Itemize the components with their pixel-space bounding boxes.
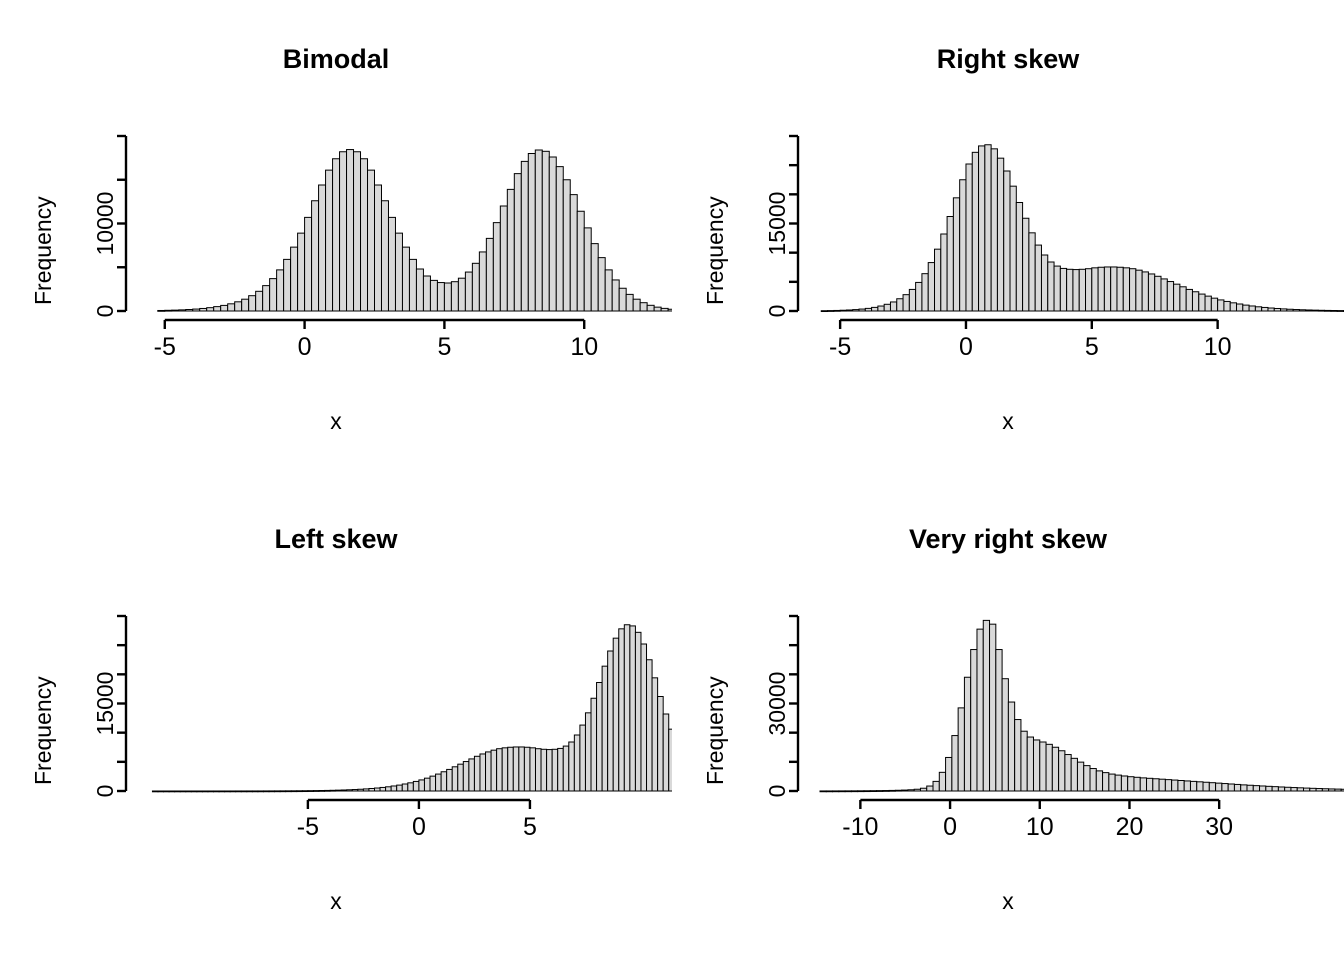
histogram-bar [1230,303,1236,311]
histogram-bar [1147,778,1153,791]
histogram-bar [585,713,591,791]
histogram-bar [1285,787,1291,791]
histogram-bar [1059,751,1065,791]
histogram-bar [1123,268,1129,311]
histogram-bar [228,304,235,311]
histogram-bar [633,299,640,311]
histogram-bar [497,749,503,791]
histogram-bar [430,280,437,311]
histogram-bar [939,772,945,791]
histogram-bar [1253,786,1259,791]
x-axis-tick-label: 10 [570,333,598,361]
histogram-bar [1086,269,1092,311]
histogram-bar [358,789,364,791]
x-axis-tick-label: 10 [1204,333,1232,361]
histogram-bar [368,170,375,311]
x-axis-tick-label: 0 [412,813,426,841]
histogram-bar [486,752,492,791]
histogram-bar [312,201,319,311]
histogram-bar [513,747,519,791]
histogram-bar [352,790,358,791]
histogram-bar [381,201,388,311]
histogram-bar [1287,309,1293,311]
histogram-bar [298,233,305,311]
histogram-bar [1148,274,1154,311]
histogram-bar [1172,780,1178,791]
histogram-bar [658,697,664,792]
histogram-bar [1035,245,1041,311]
histogram-bar [164,791,170,792]
histogram-bar [430,776,436,791]
histogram-bar [1115,775,1121,791]
histogram-bar [479,252,486,311]
histogram-bar [977,629,983,791]
histogram-bar [1130,269,1136,311]
histogram-bar [452,767,458,791]
histogram-bar [158,791,164,792]
histogram-bar [441,772,447,791]
histogram-bar [252,791,258,792]
histogram-bar [661,308,668,311]
histogram-bar [821,311,827,312]
histogram-bar [363,789,369,791]
histogram-bar [225,791,231,792]
histogram-bar [1077,762,1083,791]
histogram-bar [1299,310,1305,311]
histogram-bar [996,650,1002,791]
histogram-bar [1117,267,1123,311]
histogram-bar [820,791,826,792]
histogram-bar [1121,776,1127,791]
histogram-bar [519,747,525,791]
histogram-bar [291,791,297,792]
histogram-bar [577,211,584,311]
histogram-bar [884,304,890,311]
histogram-bar [325,790,331,791]
histogram-bar [990,624,996,791]
histogram-bar [979,146,985,311]
histogram-bar [465,272,472,311]
histogram-bar [305,217,312,311]
histogram-bar [1161,279,1167,311]
x-axis-tick-label: -5 [154,333,176,361]
histogram-bar [647,305,654,311]
histogram-bar [1272,787,1278,791]
histogram-bar [1335,789,1341,791]
histogram-bar [1060,268,1066,311]
histogram-plot-area: 030000-100102030 [672,480,1344,960]
histogram-bar [1291,788,1297,791]
histogram-bar [463,762,469,791]
histogram-bar [859,309,865,311]
histogram-bar [1023,218,1029,311]
histogram-bar [1281,309,1287,311]
x-axis-tick-label: 10 [1026,813,1054,841]
histogram-bar [395,233,402,311]
histogram-bar [158,310,165,311]
x-axis-tick-label: -10 [842,813,878,841]
histogram-bar [1136,270,1142,311]
histogram-bar [1041,255,1047,311]
histogram-bar [549,157,556,311]
histogram-bar [1134,777,1140,791]
histogram-bar [1155,276,1161,311]
histogram-bars [158,150,672,312]
histogram-bar [1004,171,1010,311]
histogram-bar [552,749,558,791]
histogram-bar [202,791,208,792]
histogram-bar [347,150,354,311]
histogram-bar [958,708,964,791]
histogram-bar [833,791,839,792]
histogram-bar [1098,267,1104,311]
histogram-bar [1243,305,1249,311]
histogram-bar [521,161,528,311]
histogram-bar [214,791,220,792]
histogram-bar [1104,267,1110,311]
histogram-bar [308,791,314,792]
histogram-bar [1297,788,1303,791]
histogram-bar [469,759,475,791]
histogram-bar [380,787,386,791]
histogram-bar [1140,778,1146,791]
histogram-bar [612,280,619,311]
histogram-bar [840,310,846,311]
histogram-bar [1224,301,1230,311]
y-axis-tick-label: 10000 [92,192,118,256]
histogram-bar [1266,786,1272,791]
histogram-bar [626,294,633,311]
histogram-bar [858,791,864,792]
histogram-bar [1268,308,1274,311]
histogram-bar [909,289,915,311]
histogram-bar [423,276,430,311]
histogram-bar [480,754,486,791]
histogram-bar [1079,269,1085,311]
histogram-bar [1209,783,1215,791]
histogram-bar [953,198,959,311]
panel-bimodal: Bimodal Frequency x 010000-50510 [0,0,672,480]
histogram-bar [1109,774,1115,791]
histogram-bar [878,306,884,311]
y-axis-tick-label: 15000 [92,672,118,736]
histogram-bar [1216,783,1222,791]
histogram-bar [619,288,626,311]
histogram-bar [1021,731,1027,791]
histogram-bar [580,725,586,791]
histogram-bar [186,310,193,311]
histogram-bar [1054,266,1060,311]
histogram-bar [191,791,197,792]
histogram-bar [569,742,575,791]
histogram-bars [820,620,1344,791]
histogram-bar [221,305,228,311]
histogram-bar [180,791,186,792]
x-axis-tick-label: -5 [297,813,319,841]
histogram-bar [1237,304,1243,311]
histogram-bar [635,632,641,791]
histogram-bar [340,152,347,311]
histogram-bar [507,189,514,311]
histogram-bar [591,698,597,791]
histogram-bar [541,749,547,791]
histogram-bar [647,660,653,791]
histogram-bar [402,247,409,311]
histogram-bar [1329,789,1335,791]
histogram-bar [1274,308,1280,311]
histogram-bar [313,791,319,792]
histogram-bar [186,791,192,792]
histogram-bar [258,791,264,792]
histogram-bar [883,791,889,792]
histogram-bar [598,258,605,311]
histogram-bar [1046,744,1052,791]
histogram-bar [263,286,270,311]
histogram-bar [1008,702,1014,791]
histogram-bar [1174,284,1180,311]
histogram-bar [1197,782,1203,791]
histogram-bar [269,791,275,792]
y-axis-tick-label: 30000 [764,672,790,736]
histogram-bar [1192,292,1198,311]
histogram-bar [920,788,926,791]
histogram-bar [275,791,281,792]
histogram-bar [903,295,909,311]
histogram-bar [597,683,603,792]
histogram-bar [542,151,549,311]
histogram-bar [386,787,392,791]
y-axis-tick-label: 0 [92,785,118,798]
histogram-bar [574,735,580,791]
histogram-bar [865,308,871,311]
histogram-bar [1322,789,1328,791]
histogram-bar [834,310,840,311]
histogram-bar [1310,788,1316,791]
histogram-bar [927,786,933,791]
histogram-bar [207,308,214,311]
y-axis-tick-label: 0 [764,785,790,798]
x-axis-tick-label: 5 [437,333,451,361]
histogram-bar [1016,203,1022,312]
histogram-bar [1015,720,1021,791]
histogram-bar [1103,773,1109,791]
histogram-bar [1262,307,1268,311]
histogram-bar [235,302,242,311]
x-axis-tick-label: 30 [1205,813,1233,841]
histogram-bar [928,263,934,311]
histogram-bar [563,180,570,311]
histogram-bars [152,625,672,792]
histogram-bar [172,310,179,311]
histogram-bar [1222,784,1228,791]
histogram-bar [1211,298,1217,311]
histogram-bar [333,159,340,311]
histogram-bar [409,259,416,311]
histogram-bar [375,788,381,791]
panel-right-skew: Right skew Frequency x 015000-50510 [672,0,1344,480]
histogram-bar [640,303,647,311]
histogram-bar [1153,779,1159,791]
x-axis-tick-label: 0 [959,333,973,361]
histogram-bar [1180,287,1186,311]
histogram-bar [416,269,423,311]
histogram-bar [946,757,952,791]
histogram-bar [165,310,172,311]
histogram-bar [641,644,647,791]
histogram-bar [208,791,214,792]
histogram-bar [214,307,221,311]
histogram-bar [1033,740,1039,791]
histogram-bar [388,217,395,311]
histogram-bar [1186,289,1192,311]
histogram-bar [508,747,514,791]
histogram-bar [890,302,896,311]
histogram-bar [1184,781,1190,791]
histogram-bar [870,791,876,792]
histogram-bar [1247,785,1253,791]
histogram-bar [375,185,382,311]
histogram-bar [530,748,536,791]
x-axis-tick-label: 5 [1085,333,1099,361]
histogram-bar [319,185,326,311]
histogram-bar [1260,786,1266,791]
histogram-bar [408,783,414,791]
histogram-bar [1159,779,1165,791]
histogram-bar [535,749,541,791]
histogram-bar [966,164,972,311]
histogram-bar [663,714,669,791]
histogram-bar [1205,296,1211,311]
histogram-bar [169,791,175,792]
histogram-bar [1331,311,1337,312]
histogram-bar [563,746,569,791]
histogram-bar [472,263,479,311]
histogram-bar [419,780,425,791]
histogram-bar [326,170,333,311]
histogram-bar [624,625,630,791]
histogram-bar [402,784,408,791]
histogram-bar [474,756,480,791]
histogram-bar [889,790,895,791]
histogram-bar [1092,268,1098,311]
histogram-bar [983,620,989,791]
histogram-bar [514,174,521,311]
histogram-plot-area: 010000-50510 [0,0,672,480]
histogram-bar [291,247,298,311]
histogram-bar [605,270,612,311]
histogram-bar [230,791,236,792]
histogram-bar [845,791,851,792]
histogram-bar [1052,747,1058,791]
x-axis-tick-label: 20 [1116,813,1144,841]
histogram-bar [491,750,497,791]
histogram-bar [341,790,347,791]
histogram-bar [330,790,336,791]
histogram-bar [1234,784,1240,791]
histogram-bar [1065,755,1071,791]
histogram-bar [826,791,832,792]
histogram-bar [922,274,928,311]
histogram-bar [361,159,368,311]
histogram-bar [1337,311,1343,312]
histogram-bar [249,296,256,311]
histogram-bar [1241,785,1247,791]
histogram-bar [1084,766,1090,791]
histogram-bar [277,270,284,311]
histogram-bar [270,279,277,311]
histogram-bar [437,283,444,311]
histogram-bar [347,790,353,791]
histogram-bar [1111,267,1117,311]
histogram-bar [1090,769,1096,791]
histogram-bar [280,791,286,792]
histogram-bar [1071,758,1077,791]
histogram-plot-area: 015000-50510 [672,0,1344,480]
x-axis-tick-label: -5 [829,333,851,361]
histogram-bar [902,790,908,791]
histogram-bar [933,781,939,791]
histogram-bar [1306,310,1312,311]
y-axis-tick-label: 0 [92,305,118,318]
histogram-bar [971,650,977,791]
histogram-bar [570,195,577,311]
histogram-bar [319,791,325,792]
histogram-bar [179,310,186,311]
histogram-bar [972,152,978,311]
histogram-bar [1325,310,1331,311]
histogram-bar [1249,306,1255,311]
histogram-figure-grid: Bimodal Frequency x 010000-50510 Right s… [0,0,1344,960]
histogram-bar [413,781,419,791]
panel-left-skew: Left skew Frequency x 015000-505 [0,480,672,960]
histogram-bar [916,282,922,311]
histogram-bar [1293,310,1299,311]
histogram-bar [256,291,263,311]
histogram-bar [897,299,903,311]
histogram-bar [872,307,878,311]
histogram-bar [853,310,859,311]
histogram-plot-area: 015000-505 [0,480,672,960]
histogram-bar [284,259,291,311]
histogram-bar [1255,307,1261,311]
histogram-bar [1002,679,1008,791]
histogram-bar [556,167,563,311]
histogram-bar [941,234,947,311]
histogram-bar [369,788,375,791]
histogram-bar [502,748,508,791]
histogram-bar [1142,272,1148,311]
histogram-bar [613,638,619,791]
histogram-bar [219,791,225,792]
histogram-bar [458,278,465,311]
histogram-bar [1165,780,1171,791]
histogram-bar [1167,282,1173,311]
histogram-bar [524,747,530,791]
histogram-bar [1040,742,1046,791]
histogram-bar [1067,269,1073,311]
histogram-bar [175,791,181,792]
histogram-bar [558,748,564,791]
histogram-bar [197,791,203,792]
histogram-bar [458,764,464,791]
x-axis-tick-label: 5 [523,813,537,841]
histogram-bar [336,790,342,791]
histogram-bar [1218,300,1224,311]
histogram-bar [447,769,453,791]
histogram-bar [630,626,636,791]
histogram-bar [877,791,883,792]
histogram-bar [1318,310,1324,311]
